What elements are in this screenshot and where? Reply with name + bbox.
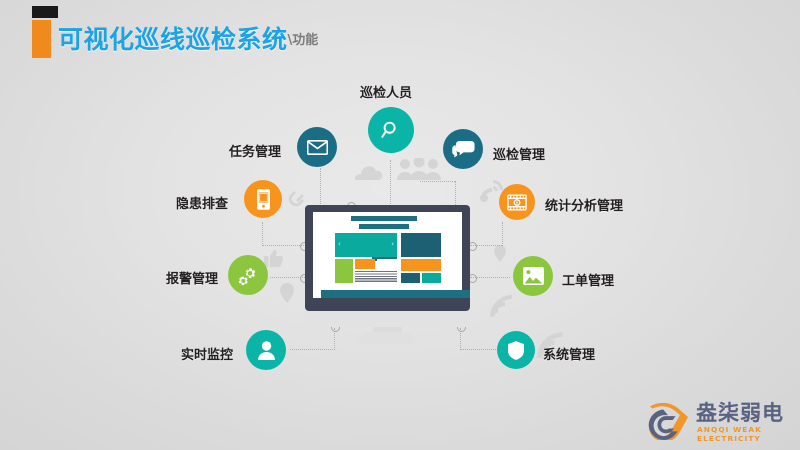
node-workorder-management[interactable]: [513, 256, 553, 296]
brand-logo: 盎柒弱电 ANQQI WEAK ELECTRICITY: [640, 396, 792, 442]
film-icon: [507, 194, 527, 211]
thumbs-up-decor-icon: [264, 248, 284, 268]
node-label-realtime-monitoring: 实时监控: [181, 344, 233, 363]
screen-panel-green: [335, 259, 353, 283]
search-icon: [380, 119, 402, 141]
connector-line: [262, 222, 263, 246]
node-label-statistics-analysis: 统计分析管理: [545, 195, 623, 214]
shield-icon: [508, 341, 524, 360]
monitor-stand: [357, 332, 418, 344]
node-inspector[interactable]: [368, 107, 414, 153]
monitor-bezel: ‹ ›: [305, 205, 470, 311]
monitor-illustration: ‹ ›: [305, 205, 470, 330]
node-label-alarm-management: 报警管理: [166, 268, 218, 287]
screen-panel-orange-wide: [401, 259, 441, 271]
image-icon: [523, 267, 544, 285]
node-statistics-analysis[interactable]: [499, 184, 535, 220]
node-hazard-inspection[interactable]: [244, 180, 282, 218]
connector-line: [262, 245, 304, 246]
anqqi-logo-mark: [640, 398, 694, 440]
carousel-prev-arrow: ‹: [338, 241, 341, 248]
connector-line: [455, 181, 456, 205]
map-pin-decor-icon: [494, 245, 506, 262]
node-label-hazard-inspection: 隐患排查: [176, 193, 228, 212]
mail-icon: [307, 140, 328, 155]
connector-line: [502, 222, 503, 246]
user-icon: [258, 341, 275, 360]
carousel-next-arrow: ›: [391, 241, 394, 248]
mobile-icon: [257, 189, 270, 210]
connector-line: [290, 349, 335, 350]
screen-subheader-bar: [359, 224, 409, 229]
page-title-suffix: \功能: [288, 33, 319, 48]
node-label-workorder-management: 工单管理: [562, 270, 614, 289]
screen-panel-dark: [401, 233, 441, 257]
brand-name-cn: 盎柒弱电: [696, 397, 784, 427]
node-alarm-management[interactable]: [228, 255, 268, 295]
screen-header-bar: [351, 216, 417, 221]
screen-tile-teal: [422, 273, 441, 283]
chat-icon: [452, 140, 475, 158]
screen-text-lines: [355, 271, 397, 283]
node-system-management[interactable]: [497, 331, 535, 369]
node-label-inspection-management: 巡检管理: [493, 144, 545, 163]
screen-panel-orange-small: [355, 259, 375, 269]
cloud-decor-icon: [348, 162, 384, 180]
people-group-decor-icon: [396, 158, 442, 180]
header-black-tab: [32, 6, 58, 18]
page-title-main: 可视化巡线巡检系统: [58, 25, 288, 54]
gears-icon: [237, 265, 260, 286]
monitor-screen: ‹ ›: [313, 212, 462, 298]
screen-tile-dark: [401, 273, 420, 283]
node-label-inspector: 巡检人员: [360, 82, 412, 101]
monitor-chin: [305, 311, 470, 327]
node-label-system-management: 系统管理: [543, 344, 595, 363]
header-orange-bar: [32, 20, 51, 58]
node-inspection-management[interactable]: [443, 129, 483, 169]
page-title: 可视化巡线巡检系统\功能: [58, 20, 318, 56]
screen-footer-bar: [321, 290, 470, 298]
screen-carousel: ‹ ›: [335, 233, 397, 257]
node-label-task-management: 任务管理: [229, 141, 281, 160]
brand-name-en: ANQQI WEAK ELECTRICITY: [697, 425, 792, 443]
node-task-management[interactable]: [297, 127, 337, 167]
map-pin-decor-icon: [280, 283, 294, 303]
slide-canvas: 可视化巡线巡检系统\功能: [0, 0, 800, 450]
screen-panel-white: [377, 259, 397, 269]
connector-line: [460, 349, 502, 350]
connector-line: [320, 168, 321, 206]
wifi-decor-icon: [488, 293, 516, 319]
node-realtime-monitoring[interactable]: [246, 330, 286, 370]
connector-line: [420, 181, 455, 182]
